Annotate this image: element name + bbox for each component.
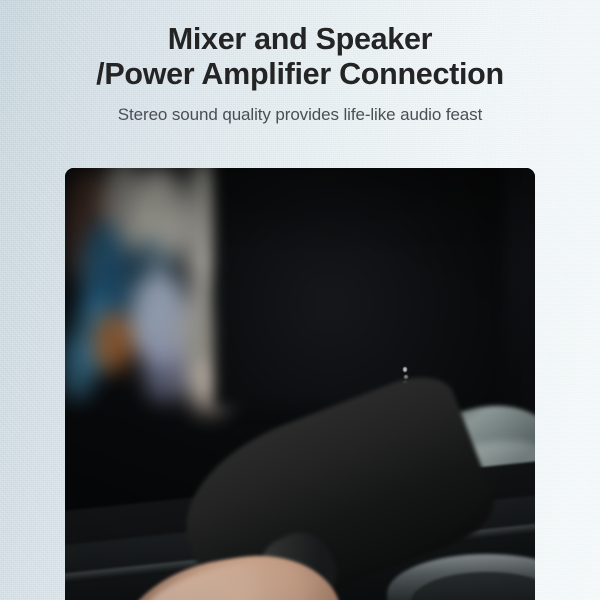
banner-header: Mixer and Speaker /Power Amplifier Conne… xyxy=(0,0,600,125)
dj-mixer-photo xyxy=(65,168,535,600)
title-line-1: Mixer and Speaker xyxy=(0,22,600,57)
page-title: Mixer and Speaker /Power Amplifier Conne… xyxy=(0,0,600,92)
title-line-2: /Power Amplifier Connection xyxy=(0,57,600,92)
page-subtitle: Stereo sound quality provides life-like … xyxy=(0,92,600,125)
dark-torso xyxy=(215,168,505,408)
hero-photo xyxy=(65,168,535,600)
product-banner-page: Mixer and Speaker /Power Amplifier Conne… xyxy=(0,0,600,600)
jacket-highlight-icon xyxy=(403,367,407,372)
